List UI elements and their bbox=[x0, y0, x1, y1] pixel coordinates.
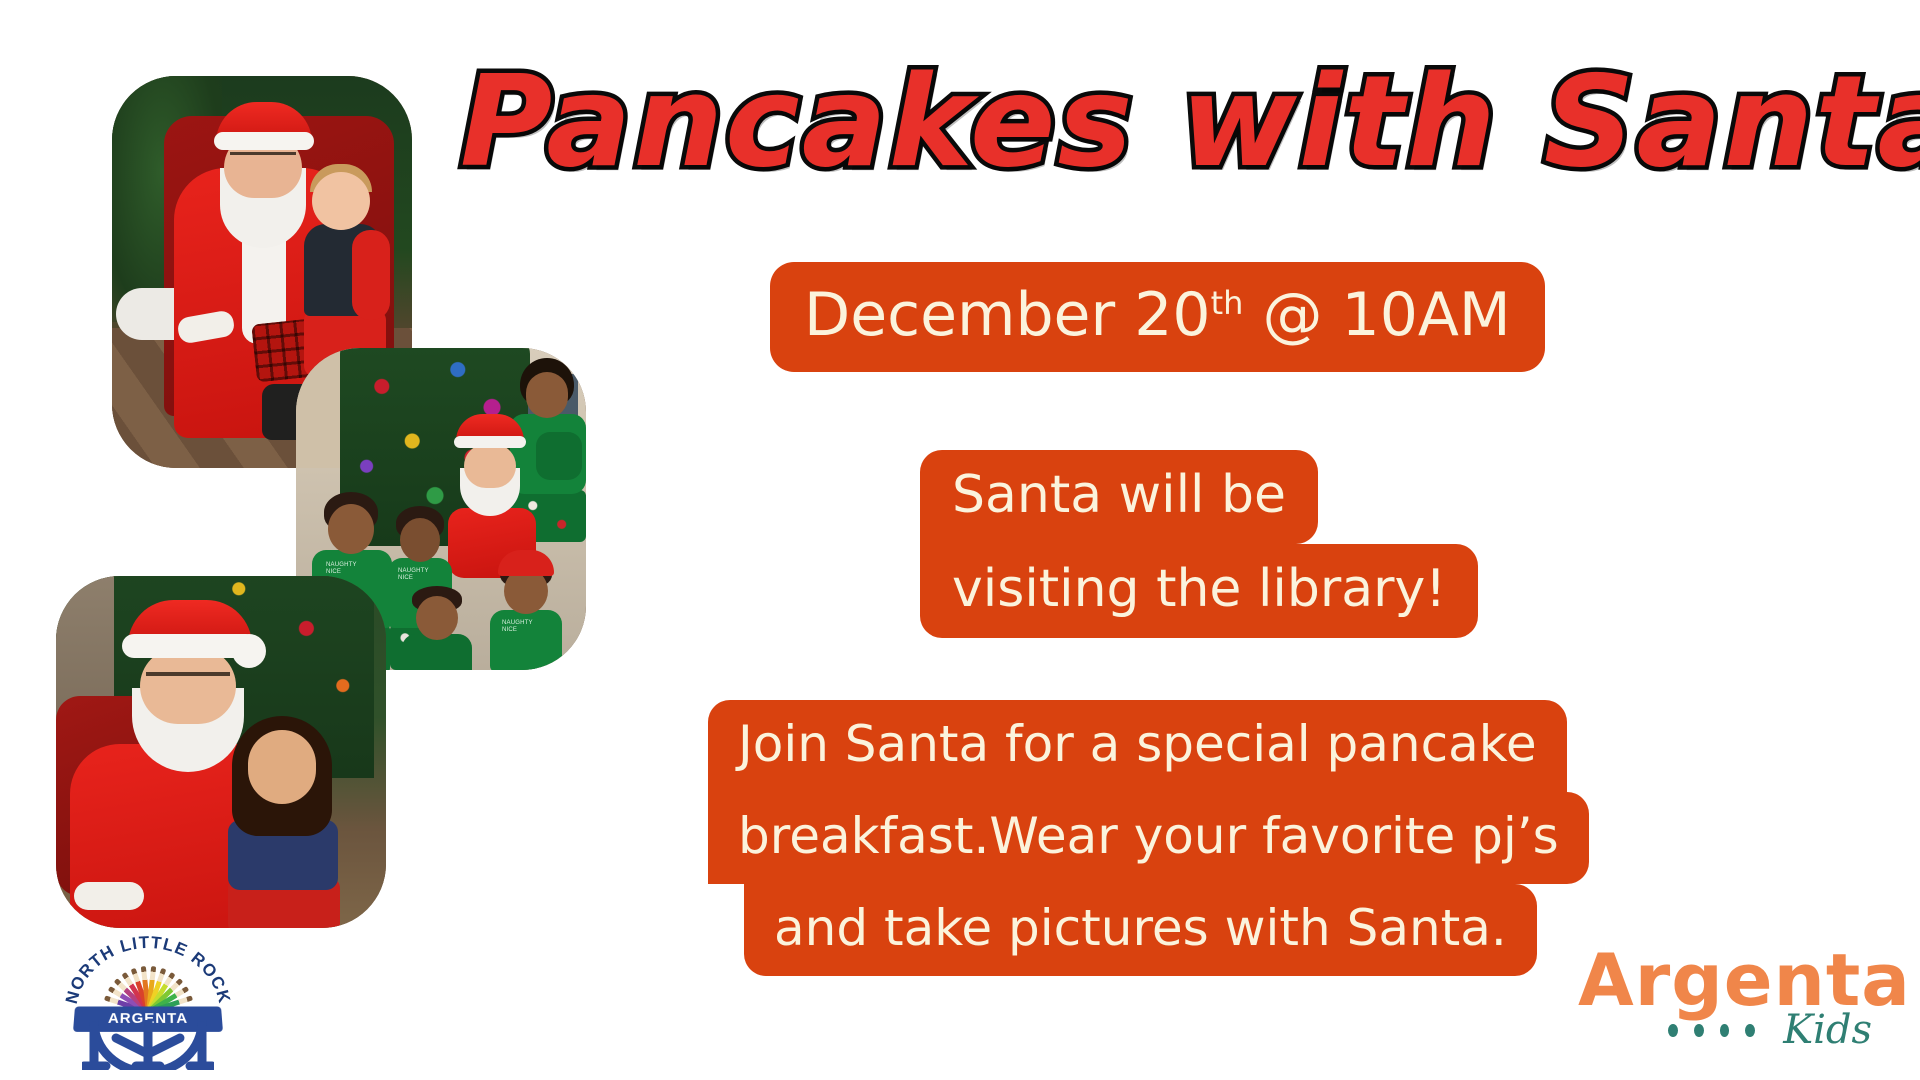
date-text: December 20 bbox=[804, 280, 1211, 350]
visit-banner-line-1: Santa will be bbox=[920, 450, 1318, 544]
date-ordinal-suffix: th bbox=[1211, 284, 1244, 322]
kids-wordmark: Kids bbox=[1783, 1010, 1872, 1050]
description-line-3: and take pictures with Santa. bbox=[744, 884, 1537, 976]
argenta-kids-logo: Argenta Kids bbox=[1572, 942, 1872, 1066]
santa-visit-banner: Santa will be visiting the library! bbox=[920, 450, 1478, 638]
accent-dot-icon bbox=[1668, 1024, 1678, 1037]
flyer-canvas: NAUGHTYNICE NAUGHTYNICE NAUGHTYNICE bbox=[0, 0, 1920, 1080]
date-time-text: @ 10AM bbox=[1243, 280, 1510, 350]
north-little-rock-argenta-library-logo: NORTH LITTLE ROCK ARGENTA LIBRARY bbox=[64, 928, 232, 1068]
description-banner: Join Santa for a special pancake breakfa… bbox=[708, 700, 1589, 976]
date-banner-line: December 20th @ 10AM bbox=[770, 262, 1545, 372]
accent-dot-icon bbox=[1720, 1024, 1730, 1037]
photo-santa-with-girl bbox=[56, 576, 386, 928]
accent-dot-icon bbox=[1745, 1024, 1755, 1037]
date-banner: December 20th @ 10AM bbox=[770, 262, 1545, 372]
library-wheel-emblem-icon bbox=[82, 1020, 214, 1070]
colored-pencil-fan-icon bbox=[98, 956, 198, 1012]
description-line-1: Join Santa for a special pancake bbox=[708, 700, 1567, 792]
description-line-2: breakfast.Wear your favorite pj’s bbox=[708, 792, 1589, 884]
page-title: Pancakes with Santa! bbox=[460, 58, 1900, 186]
accent-dot-icon bbox=[1694, 1024, 1704, 1037]
visit-banner-line-2: visiting the library! bbox=[920, 544, 1478, 638]
